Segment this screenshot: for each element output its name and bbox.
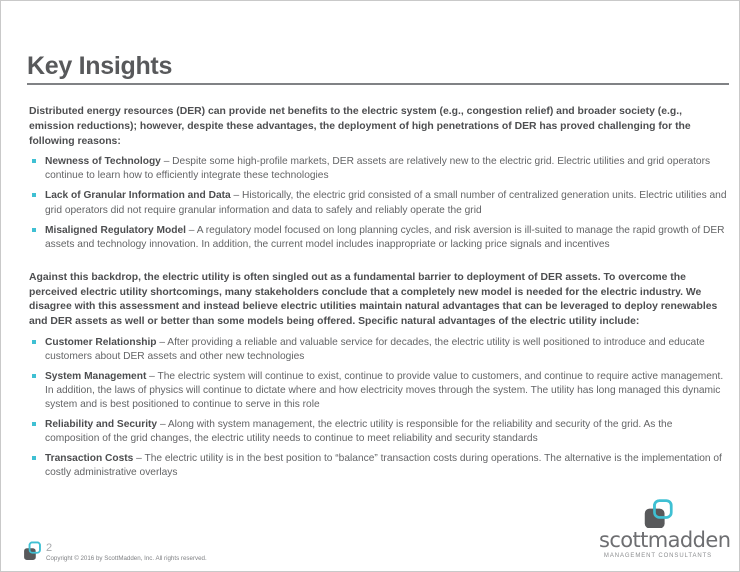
list-item-text: – The electric utility is in the best po…: [45, 453, 722, 478]
bullet-square-icon: [32, 374, 36, 378]
bullet-square-icon: [32, 422, 36, 426]
bullet-square-icon: [32, 228, 36, 232]
list-item-term: Customer Relationship: [45, 337, 157, 348]
list-item-term: Transaction Costs: [45, 453, 133, 464]
reasons-list: Newness of Technology – Despite some hig…: [29, 155, 729, 251]
list-item-term: Lack of Granular Information and Data: [45, 190, 231, 201]
logo-wordmark: scottmadden: [599, 530, 717, 551]
intro-paragraph: Distributed energy resources (DER) can p…: [29, 105, 729, 149]
slide-body: Distributed energy resources (DER) can p…: [29, 105, 729, 487]
list-item: Reliability and Security – Along with sy…: [29, 418, 729, 446]
list-item: Transaction Costs – The electric utility…: [29, 452, 729, 480]
page-number: 2: [46, 543, 207, 554]
list-item: Lack of Granular Information and Data – …: [29, 189, 729, 217]
list-item-term: Misaligned Regulatory Model: [45, 225, 186, 236]
footer-left: 2 Copyright © 2016 by ScottMadden, Inc. …: [21, 540, 207, 563]
list-item-term: Reliability and Security: [45, 419, 157, 430]
thesis-paragraph: Against this backdrop, the electric util…: [29, 271, 729, 330]
overlapping-squares-icon: [21, 540, 43, 562]
list-item-term: System Management: [45, 371, 146, 382]
list-item: Misaligned Regulatory Model – A regulato…: [29, 224, 729, 252]
title-divider: [27, 83, 729, 85]
bullet-square-icon: [32, 159, 36, 163]
footer-text: 2 Copyright © 2016 by ScottMadden, Inc. …: [46, 543, 207, 563]
list-item: System Management – The electric system …: [29, 370, 729, 412]
slide-canvas: Key Insights Distributed energy resource…: [0, 0, 740, 572]
list-item-text: – The electric system will continue to e…: [45, 371, 723, 410]
logo-tagline: MANAGEMENT CONSULTANTS: [599, 553, 717, 559]
title-block: Key Insights: [27, 53, 729, 85]
list-item-term: Newness of Technology: [45, 156, 161, 167]
bullet-square-icon: [32, 193, 36, 197]
list-item: Customer Relationship – After providing …: [29, 336, 729, 364]
scottmadden-logo: scottmadden MANAGEMENT CONSULTANTS: [599, 498, 717, 559]
advantages-list: Customer Relationship – After providing …: [29, 336, 729, 481]
overlapping-squares-icon: [640, 498, 676, 528]
copyright-notice: Copyright © 2016 by ScottMadden, Inc. Al…: [46, 556, 207, 563]
bullet-square-icon: [32, 456, 36, 460]
page-title: Key Insights: [27, 53, 729, 79]
bullet-square-icon: [32, 340, 36, 344]
list-item: Newness of Technology – Despite some hig…: [29, 155, 729, 183]
